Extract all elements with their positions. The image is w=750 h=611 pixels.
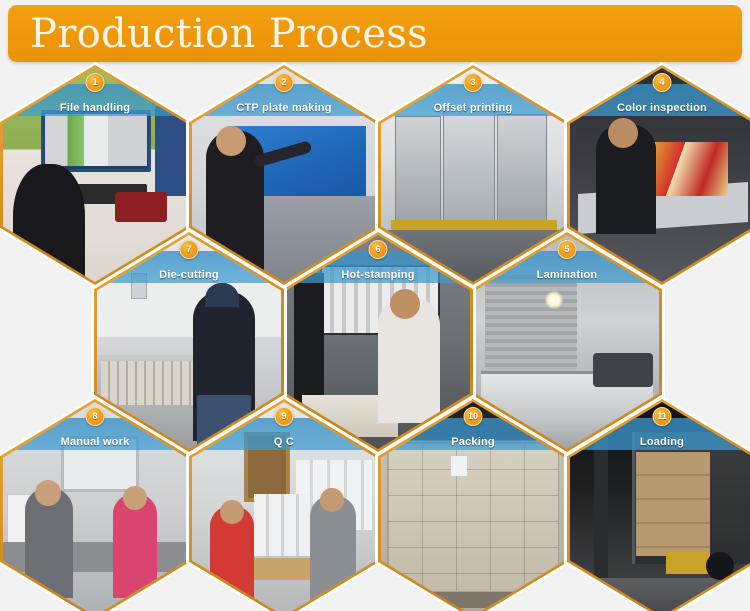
step-number-badge: 10 xyxy=(464,407,483,426)
step-number-badge: 8 xyxy=(86,407,105,426)
step-number-badge: 4 xyxy=(653,73,672,92)
scene-element-u2 xyxy=(443,108,495,228)
scene-element-stack xyxy=(387,442,559,592)
step-number-badge: 9 xyxy=(275,407,294,426)
scene-element-scr xyxy=(45,114,147,166)
scene-element-blk xyxy=(294,273,324,413)
scene-element-cap xyxy=(205,283,239,307)
step-label: Lamination xyxy=(537,269,598,281)
step-label: Loading xyxy=(640,436,684,448)
scene-element-sheet xyxy=(644,142,728,196)
scene-element-f1 xyxy=(35,480,61,506)
step-label: Die-cutting xyxy=(159,269,219,281)
step-number-badge: 11 xyxy=(653,407,672,426)
step-label: File handling xyxy=(60,102,130,114)
scene-element-tag xyxy=(451,456,467,476)
scene-element-face xyxy=(608,118,638,148)
scene-element-u3 xyxy=(497,114,547,228)
step-banner: 3Offset printing xyxy=(381,84,565,116)
scene-element-cargo xyxy=(636,452,710,556)
step-label: Color inspection xyxy=(617,102,707,114)
scene-element-post xyxy=(594,436,608,584)
scene-element-u1 xyxy=(395,116,441,228)
scene-element-lamp xyxy=(666,552,710,574)
page-title: Production Process xyxy=(30,8,428,60)
scene-element-strip xyxy=(391,220,557,230)
scene-element-face xyxy=(390,289,420,319)
scene-element-f2 xyxy=(320,488,344,512)
scene-element-mouse xyxy=(115,192,167,222)
step-label: Offset printing xyxy=(434,102,513,114)
step-label: Manual work xyxy=(61,436,130,448)
scene-element-roll xyxy=(593,353,653,387)
step-number-badge: 1 xyxy=(86,73,105,92)
step-number-badge: 5 xyxy=(558,240,577,259)
scene-element-head xyxy=(13,164,85,282)
production-process-infographic: Production Process 1File handling2CTP pl… xyxy=(0,0,750,611)
scene-element-face xyxy=(216,126,246,156)
step-banner: 2CTP plate making xyxy=(192,84,376,116)
scene-element-ground xyxy=(570,578,750,611)
header-bar: Production Process xyxy=(8,5,742,62)
process-hex-grid: 1File handling2CTP plate making3Offset p… xyxy=(0,62,750,611)
step-label: Q C xyxy=(274,436,294,448)
scene-element-boxes2 xyxy=(254,494,310,556)
scene-element-door xyxy=(485,271,577,375)
step-number-badge: 7 xyxy=(180,240,199,259)
step-label: CTP plate making xyxy=(236,102,331,114)
step-number-badge: 2 xyxy=(275,73,294,92)
scene-element-f2 xyxy=(123,486,147,510)
step-number-badge: 3 xyxy=(464,73,483,92)
step-label: Packing xyxy=(451,436,495,448)
scene-element-f1 xyxy=(220,500,244,524)
step-banner: 4Color inspection xyxy=(570,84,750,116)
step-banner: 1File handling xyxy=(3,84,187,116)
scene-element-pallet xyxy=(391,592,555,608)
step-number-badge: 6 xyxy=(369,240,388,259)
step-label: Hot-stamping xyxy=(341,269,414,281)
scene-element-lamp xyxy=(545,291,563,309)
